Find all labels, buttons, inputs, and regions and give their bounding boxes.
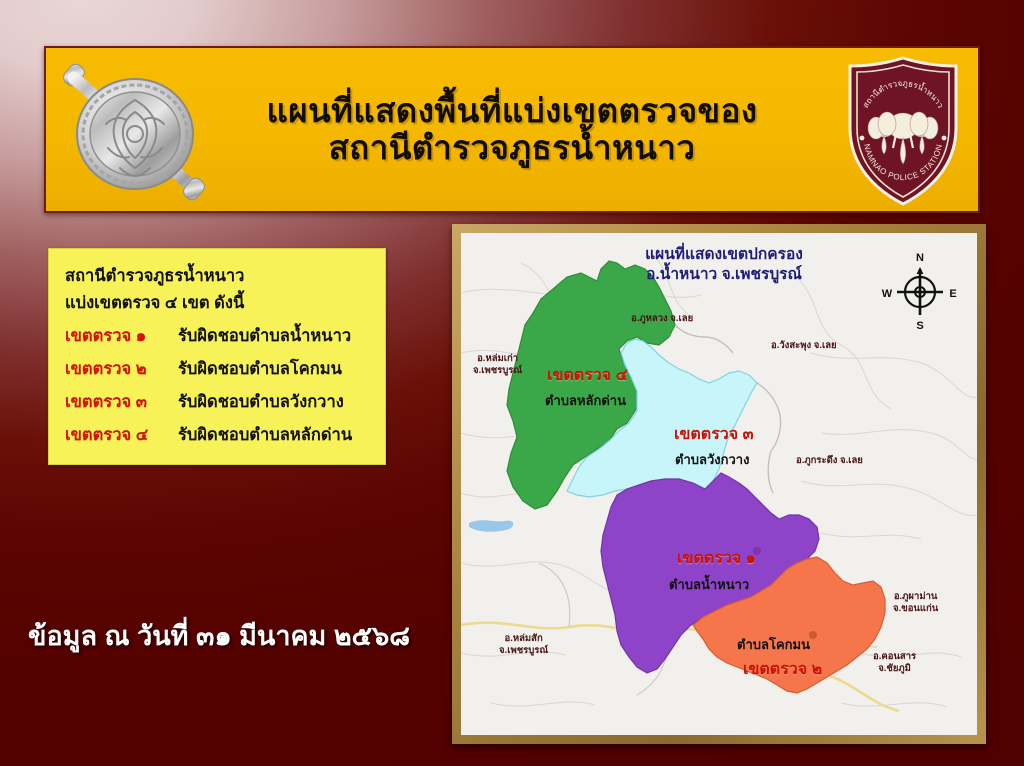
legend-heading: สถานีตำรวจภูธรน้ำหนาว แบ่งเขตตรวจ ๔ เขต … bbox=[65, 263, 369, 316]
legend-row: เขตตรวจ ๓ รับผิดชอบตำบลวังกวาง bbox=[65, 389, 369, 415]
page-root: { "banner": { "title_line1": "แผนที่แสดง… bbox=[0, 0, 1024, 766]
namnao-police-station-badge: สถานีตำรวจภูธรน้ำหนาว NAMNAO POLICE S bbox=[840, 54, 966, 209]
legend-zone-4-label: เขตตรวจ ๔ bbox=[65, 422, 169, 448]
map-canvas: แผนที่แสดงเขตปกครอง อ.น้ำหนาว จ.เพชรบูรณ… bbox=[461, 233, 977, 735]
page-title: แผนที่แสดงพื้นที่แบ่งเขตตรวจของ สถานีตำร… bbox=[116, 93, 907, 167]
svg-text:S: S bbox=[916, 320, 923, 332]
legend-row: เขตตรวจ ๑ รับผิดชอบตำบลน้ำหนาว bbox=[65, 323, 369, 349]
legend-row: เขตตรวจ ๔ รับผิดชอบตำบลหลักด่าน bbox=[65, 422, 369, 448]
thai-royal-silver-shield-emblem bbox=[60, 56, 208, 208]
svg-text:E: E bbox=[949, 288, 956, 300]
compass-rose-icon: N S W E bbox=[881, 247, 959, 333]
legend-heading-line1: สถานีตำรวจภูธรน้ำหนาว bbox=[65, 263, 369, 290]
legend-zone-1-desc: รับผิดชอบตำบลน้ำหนาว bbox=[178, 323, 351, 349]
map-frame: แผนที่แสดงเขตปกครอง อ.น้ำหนาว จ.เพชรบูรณ… bbox=[452, 224, 986, 744]
legend-heading-line2: แบ่งเขตตรวจ ๔ เขต ดังนี้ bbox=[65, 290, 369, 317]
legend-zone-2-label: เขตตรวจ ๒ bbox=[65, 356, 169, 382]
legend-zone-3-desc: รับผิดชอบตำบลวังกวาง bbox=[178, 389, 344, 415]
banner-title-line1: แผนที่แสดงพื้นที่แบ่งเขตตรวจของ bbox=[266, 92, 757, 129]
legend-box: สถานีตำรวจภูธรน้ำหนาว แบ่งเขตตรวจ ๔ เขต … bbox=[48, 248, 386, 465]
legend-zone-1-label: เขตตรวจ ๑ bbox=[65, 323, 169, 349]
svg-text:N: N bbox=[916, 252, 924, 264]
banner-title-line2: สถานีตำรวจภูธรน้ำหนาว bbox=[266, 130, 757, 167]
header-banner: แผนที่แสดงพื้นที่แบ่งเขตตรวจของ สถานีตำร… bbox=[44, 46, 980, 213]
legend-row: เขตตรวจ ๒ รับผิดชอบตำบลโคกมน bbox=[65, 356, 369, 382]
water-body bbox=[469, 520, 513, 532]
legend-zone-2-desc: รับผิดชอบตำบลโคกมน bbox=[178, 356, 342, 382]
legend-zone-3-label: เขตตรวจ ๓ bbox=[65, 389, 169, 415]
svg-text:W: W bbox=[882, 288, 893, 300]
legend-zone-4-desc: รับผิดชอบตำบลหลักด่าน bbox=[178, 422, 352, 448]
data-as-of-date: ข้อมูล ณ วันที่ ๓๑ มีนาคม ๒๕๖๘ bbox=[28, 614, 410, 657]
